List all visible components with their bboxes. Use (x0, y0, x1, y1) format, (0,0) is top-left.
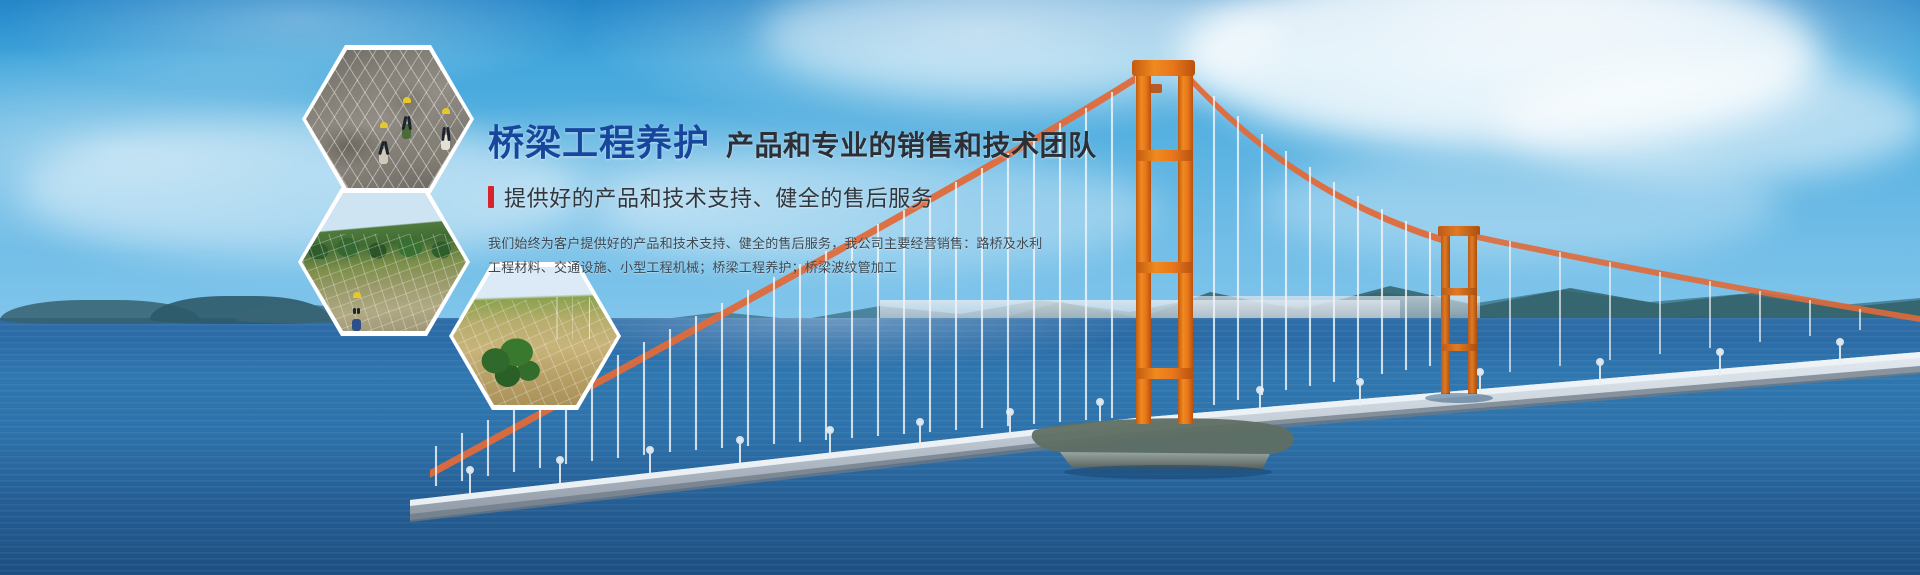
banner-body: 我们始终为客户提供好的产品和技术支持、健全的售后服务，我公司主要经营销售：路桥及… (488, 235, 1188, 278)
hex-photo-green-slope-netting[interactable] (298, 188, 470, 336)
hex-photo-sunny-slope-netting[interactable] (449, 262, 621, 410)
banner-copy: 桥梁工程养护 产品和专业的销售和技术团队 提供好的产品和技术支持、健全的售后服务… (488, 124, 1188, 283)
banner-subtitle: 提供好的产品和技术支持、健全的售后服务 (504, 181, 933, 213)
photo-green-slope-netting (302, 193, 466, 331)
accent-bar-icon (488, 186, 494, 208)
photo-slope-netting-workers (306, 50, 470, 188)
banner-headline: 桥梁工程养护 产品和专业的销售和技术团队 (488, 124, 1188, 164)
banner-subtitle-row: 提供好的产品和技术支持、健全的售后服务 (488, 181, 1188, 213)
worker-figure (440, 108, 454, 136)
body-line: 工程材料、交通设施、小型工程机械；桥梁工程养护；桥梁波纹管加工 (488, 259, 1188, 278)
worker-figure (351, 292, 363, 314)
headline-primary: 桥梁工程养护 (488, 124, 710, 164)
worker-figure (378, 122, 392, 152)
body-line: 我们始终为客户提供好的产品和技术支持、健全的售后服务，我公司主要经营销售：路桥及… (488, 235, 1188, 254)
headline-secondary: 产品和专业的销售和技术团队 (726, 131, 1097, 162)
hero-banner: 桥梁工程养护 产品和专业的销售和技术团队 提供好的产品和技术支持、健全的售后服务… (0, 0, 1920, 575)
suspension-bridge (0, 0, 1920, 575)
worker-figure (401, 97, 415, 125)
hex-photo-slope-netting-workers[interactable] (302, 45, 474, 193)
photo-sunny-slope-netting (453, 267, 617, 405)
